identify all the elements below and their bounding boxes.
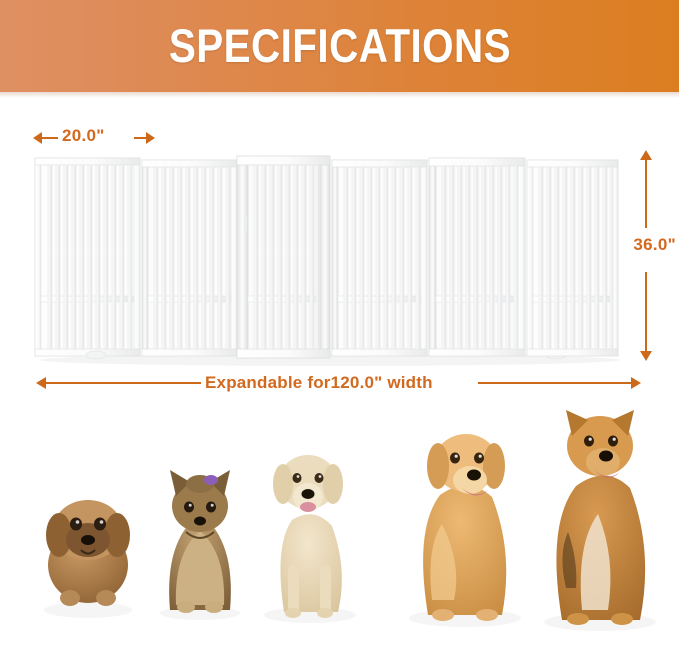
expandable-arrow-line-right [478, 382, 633, 384]
dog-yorkshire-terrier [160, 470, 240, 620]
page-title: SPECIFICATIONS [168, 0, 510, 92]
expandable-width-label: Expandable for120.0" width [205, 373, 433, 393]
panel-width-arrowhead-right [146, 132, 155, 144]
gate-panel-4 [332, 160, 427, 356]
gate-foot-left [86, 351, 106, 359]
expandable-arrowhead-left [36, 377, 46, 389]
gate-panel-2 [142, 160, 237, 356]
height-arrowhead-bottom [640, 351, 652, 361]
dog-cream-labrador [264, 455, 356, 623]
height-arrowhead-top [640, 150, 652, 160]
dog-golden-retriever [409, 434, 521, 627]
panel-width-arrowhead-left [33, 132, 42, 144]
hair-bow [204, 475, 218, 485]
panel-width-label: 20.0" [62, 126, 105, 146]
height-arrow-line-top [645, 160, 647, 228]
dog-size-comparison-row [0, 400, 679, 653]
expandable-arrow-line-left [46, 382, 201, 384]
gate-panel-6 [527, 160, 618, 356]
height-arrow-line-bottom [645, 272, 647, 352]
gate-panel-1 [35, 158, 140, 356]
gate-panels [35, 156, 618, 359]
expandable-arrowhead-right [631, 377, 641, 389]
height-label: 36.0" [633, 235, 676, 255]
gate-panel-5 [429, 158, 525, 356]
dog-shepherd-mix [544, 410, 656, 631]
dog-pekingese-puppy [44, 500, 132, 618]
gate-panel-3-door [237, 156, 330, 358]
door-latch-icon [244, 215, 247, 231]
panel-width-arrow-line-left [40, 137, 58, 139]
